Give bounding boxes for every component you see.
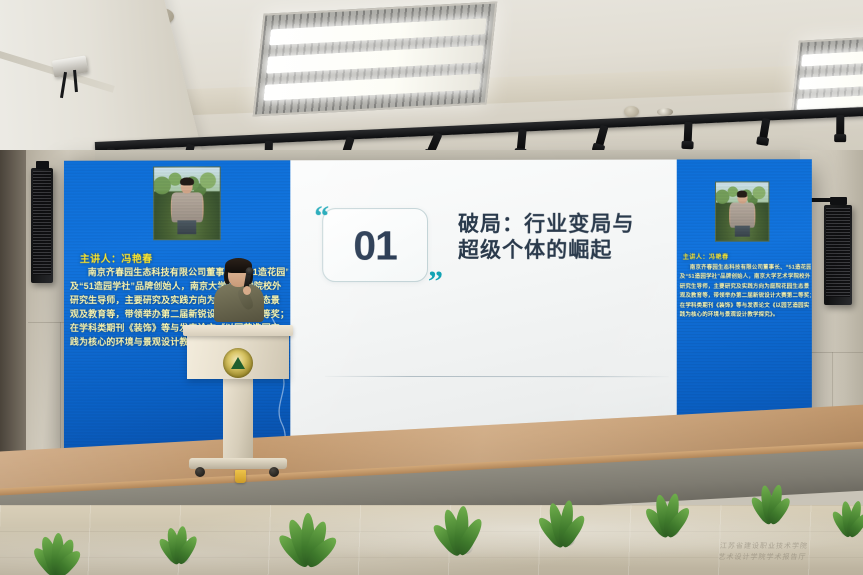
wall-seam <box>60 322 61 452</box>
watermark-line-1: 江苏省建设职业技术学院 <box>719 542 808 553</box>
section-number-card: “ ” 01 <box>322 208 428 282</box>
bio-line: 在学科类期刊《装饰》等与发表论文《以园艺造园实 <box>680 302 811 312</box>
speaker-bracket <box>830 197 847 205</box>
potted-plant <box>26 500 88 575</box>
potted-plant <box>425 470 495 554</box>
right-wall-speaker <box>824 205 852 305</box>
photo-hair <box>737 190 748 197</box>
speaker-bio-text-right: 南京齐春园生态科技有限公司董事长、“51造花园” 及“51造园学社”品牌创始人，… <box>680 264 811 321</box>
watermark-line-2: 艺术设计学院学术报告厅 <box>718 553 807 564</box>
speaker-grille <box>33 171 51 275</box>
floor-reflection-text: 江苏省建设职业技术学院 艺术设计学院学术报告厅 <box>718 542 809 563</box>
photo-hair <box>180 177 193 185</box>
speaker-photo <box>715 181 769 241</box>
potted-plant <box>742 453 800 523</box>
slide-title-line-2: 超级个体的崛起 <box>458 238 634 265</box>
podium-caster <box>269 467 279 477</box>
slide-divider <box>325 376 669 377</box>
bio-line: 研究生导师，主要研究及实践方向为庭院花园生态景 <box>680 283 811 293</box>
podium <box>183 300 293 490</box>
bio-line: 践为核心的环境与景观设计教学探究》。 <box>680 311 811 321</box>
bio-line: 观及教育等，带领举办第二届新锐设计大赛第二等奖； <box>680 292 811 302</box>
potted-plant <box>530 466 596 546</box>
track-spotlight <box>836 115 844 137</box>
sprinkler-icon <box>657 108 673 116</box>
speaker-label-left: 主讲人：冯艳春 <box>80 250 153 265</box>
track-spotlight <box>517 129 527 152</box>
slide-title-line-1: 破局：行业变局与 <box>458 212 634 239</box>
left-wall-speaker <box>31 168 53 283</box>
speaker-grille <box>826 208 850 297</box>
podium-column <box>223 379 253 461</box>
photo-legs <box>178 220 197 234</box>
track-spotlight <box>684 122 693 144</box>
slide-content: “ ” 01 破局：行业变局与 超级个体的崛起 <box>290 160 676 461</box>
quote-close-icon: ” <box>428 271 443 293</box>
water-cup <box>235 470 246 483</box>
potted-plant <box>272 477 344 565</box>
left-wall-shadow <box>0 150 26 480</box>
speaker-bracket <box>36 161 49 169</box>
potted-plant <box>152 495 206 563</box>
wall-seam <box>806 352 863 353</box>
ceiling-fluorescent-panel-main <box>253 2 497 117</box>
bio-line: 及“51造园学社”品牌创始人，南京大学艺术学院校外 <box>680 273 811 283</box>
podium-desktop <box>183 325 293 336</box>
potted-plant <box>636 460 700 536</box>
podium-caster <box>195 467 205 477</box>
institution-emblem-icon <box>223 348 253 378</box>
slide-title: 破局：行业变局与 超级个体的崛起 <box>458 212 634 265</box>
photo-person <box>172 179 202 234</box>
potted-plant <box>822 470 863 536</box>
speaker-label-right: 主讲人：冯艳春 <box>683 252 729 261</box>
conference-hall-photo: 主讲人：冯艳春 南京齐春园生态科技有限公司董事长、“51造花园” 及“51造园学… <box>0 0 863 575</box>
section-number: 01 <box>353 223 397 270</box>
speaker-photo <box>153 166 221 240</box>
photo-shirt <box>730 202 754 227</box>
ceiling-fluorescent-panel-right <box>791 35 863 113</box>
bio-line: 南京齐春园生态科技有限公司董事长、“51造花园” <box>680 264 811 274</box>
photo-person <box>730 192 754 236</box>
presenter-hand <box>243 286 251 295</box>
photo-shirt <box>172 192 202 223</box>
photo-legs <box>735 225 750 237</box>
led-panel-center-slide: “ ” 01 破局：行业变局与 超级个体的崛起 <box>290 160 676 461</box>
quote-open-icon: “ <box>314 206 329 228</box>
smoke-detector-icon <box>624 106 639 117</box>
